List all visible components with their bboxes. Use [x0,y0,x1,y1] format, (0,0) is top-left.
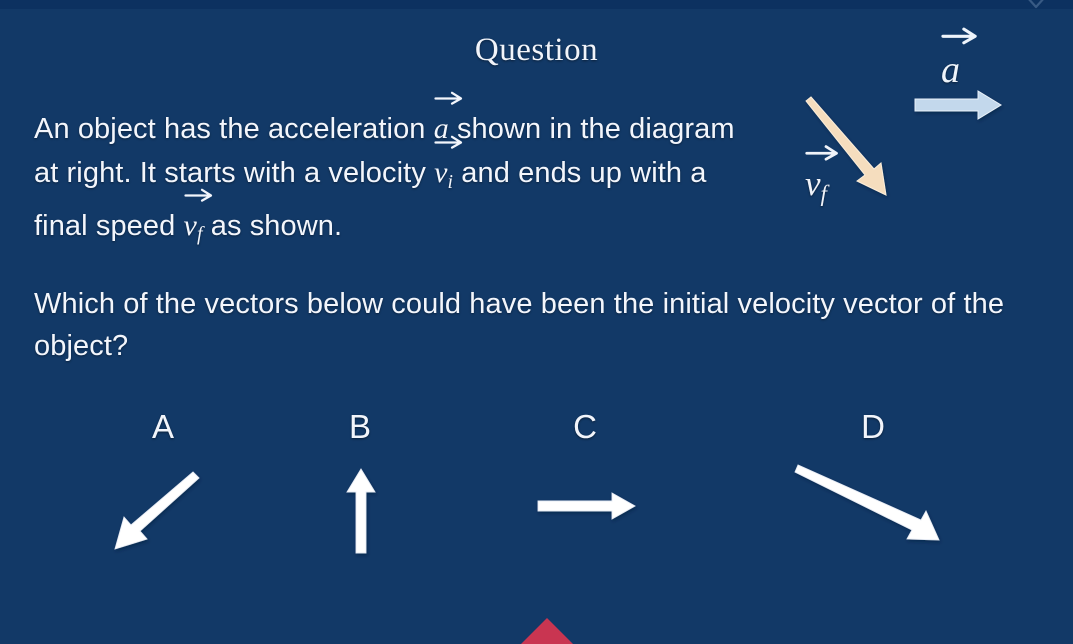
choice-letter-b: B [330,408,390,446]
prompt-text-part1: An object has the acceleration [34,113,434,145]
inline-vector-vf-subscript: f [197,213,203,255]
vector-arrow-accent-icon [805,141,840,159]
inline-vector-a-base: a [434,112,449,145]
choice-b-arrow[interactable] [347,469,375,553]
inline-vector-vf-base: v [184,209,197,242]
inline-vector-vi: vi [434,150,453,203]
prompt-paragraph-2: Which of the vectors below could have be… [34,283,1014,367]
top-video-band [0,0,1073,9]
acceleration-label-base: a [941,49,960,91]
prompt-paragraph-1: An object has the acceleration a shown i… [34,106,764,255]
vector-arrow-accent-icon [434,88,464,103]
acceleration-label-math: a [941,46,960,92]
choice-letter-d: D [843,408,903,446]
inline-vector-vf: vf [184,203,203,256]
final-velocity-label-math: vf [805,162,827,207]
prompt-text-part4: as shown. [203,210,343,242]
choice-letter-c: C [555,408,615,446]
red-triangle-pointer [487,618,607,644]
inline-vector-vi-base: v [434,156,447,189]
inline-vector-vi-subscript: i [448,161,454,203]
chevron-down-icon[interactable] [1024,0,1048,12]
slide-canvas: Question An object has the acceleration … [0,0,1073,644]
choice-letter-a: A [133,408,193,446]
choice-a-arrow[interactable] [115,472,199,549]
choice-d-arrow[interactable] [795,465,939,540]
final-velocity-label-subscript: f [821,180,827,207]
choice-c-arrow[interactable] [538,493,635,519]
page-title: Question [0,32,1073,69]
final-velocity-vector-label: vf [805,162,827,207]
final-velocity-label-base: v [805,164,821,203]
acceleration-vector-label: a [941,46,960,92]
acceleration-arrow [915,91,1001,119]
inline-vector-a: a [434,106,449,150]
